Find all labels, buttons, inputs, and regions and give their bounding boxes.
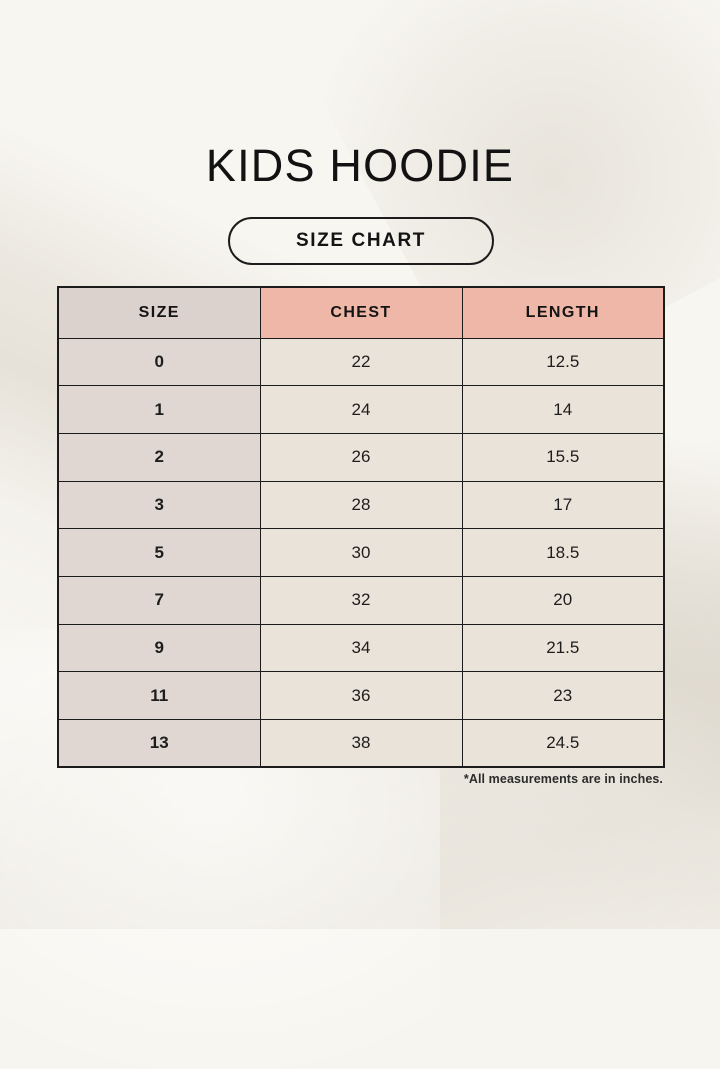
size-chart-page: KIDS HOODIE SIZE CHART SIZE CHEST LENGTH… xyxy=(0,0,720,929)
table-row: 11 36 23 xyxy=(58,672,664,720)
cell-chest: 30 xyxy=(260,529,462,577)
cell-size: 2 xyxy=(58,433,260,481)
size-chart-badge: SIZE CHART xyxy=(228,217,494,265)
cell-size: 13 xyxy=(58,720,260,768)
table-row: 2 26 15.5 xyxy=(58,433,664,481)
cell-chest: 24 xyxy=(260,386,462,434)
table-body: 0 22 12.5 1 24 14 2 26 15.5 3 28 17 5 30 xyxy=(58,338,664,767)
cell-size: 9 xyxy=(58,624,260,672)
cell-length: 21.5 xyxy=(462,624,664,672)
table-row: 7 32 20 xyxy=(58,576,664,624)
table-row: 13 38 24.5 xyxy=(58,720,664,768)
page-title: KIDS HOODIE xyxy=(0,143,720,188)
table-row: 1 24 14 xyxy=(58,386,664,434)
cell-size: 3 xyxy=(58,481,260,529)
cell-length: 20 xyxy=(462,576,664,624)
measurement-footnote: *All measurements are in inches. xyxy=(464,772,663,786)
size-chart-badge-label: SIZE CHART xyxy=(296,230,426,252)
cell-size: 5 xyxy=(58,529,260,577)
cell-chest: 26 xyxy=(260,433,462,481)
column-header-size: SIZE xyxy=(58,287,260,338)
cell-chest: 28 xyxy=(260,481,462,529)
cell-chest: 32 xyxy=(260,576,462,624)
cell-size: 1 xyxy=(58,386,260,434)
cell-length: 15.5 xyxy=(462,433,664,481)
cell-length: 24.5 xyxy=(462,720,664,768)
table-header-row: SIZE CHEST LENGTH xyxy=(58,287,664,338)
cell-length: 14 xyxy=(462,386,664,434)
cell-chest: 36 xyxy=(260,672,462,720)
table-row: 3 28 17 xyxy=(58,481,664,529)
cell-size: 11 xyxy=(58,672,260,720)
cell-chest: 34 xyxy=(260,624,462,672)
cell-length: 12.5 xyxy=(462,338,664,386)
cell-size: 7 xyxy=(58,576,260,624)
cell-length: 17 xyxy=(462,481,664,529)
cell-length: 23 xyxy=(462,672,664,720)
cell-size: 0 xyxy=(58,338,260,386)
cell-chest: 22 xyxy=(260,338,462,386)
table-row: 5 30 18.5 xyxy=(58,529,664,577)
column-header-chest: CHEST xyxy=(260,287,462,338)
cell-length: 18.5 xyxy=(462,529,664,577)
table-row: 0 22 12.5 xyxy=(58,338,664,386)
column-header-length: LENGTH xyxy=(462,287,664,338)
table-header: SIZE CHEST LENGTH xyxy=(58,287,664,338)
size-chart-table: SIZE CHEST LENGTH 0 22 12.5 1 24 14 2 26… xyxy=(57,286,665,768)
cell-chest: 38 xyxy=(260,720,462,768)
table-row: 9 34 21.5 xyxy=(58,624,664,672)
